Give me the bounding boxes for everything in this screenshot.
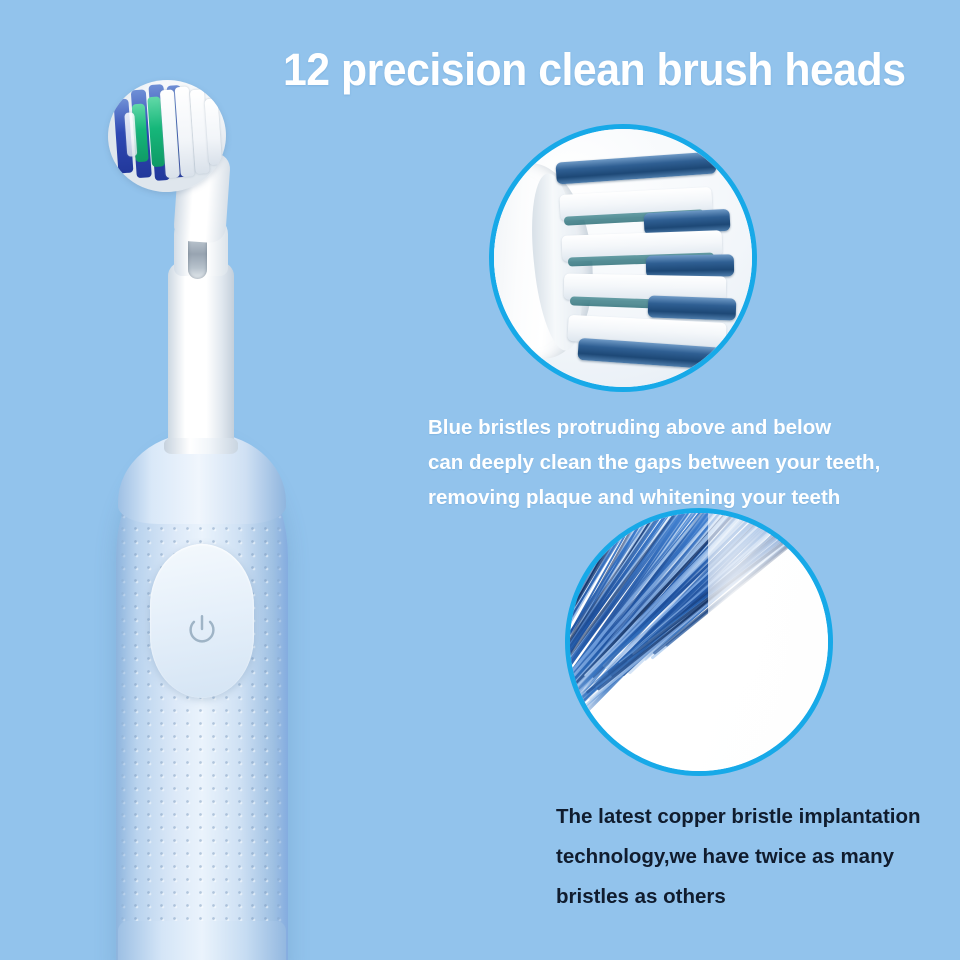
- bristle-filament-photo: [570, 513, 828, 771]
- callout-line: technology,we have twice as many: [556, 837, 921, 877]
- inset-photo-brush-head-macro: [489, 124, 757, 392]
- callout-line: Blue bristles protruding above and below: [428, 410, 880, 445]
- callout-line: can deeply clean the gaps between your t…: [428, 445, 880, 480]
- callout-copper-implantation: The latest copper bristle implantation t…: [556, 797, 921, 917]
- power-button[interactable]: [150, 544, 254, 698]
- brush-head-macro-photo: [494, 129, 752, 387]
- toothbrush-neck: [168, 262, 234, 452]
- callout-blue-bristles: Blue bristles protruding above and below…: [428, 410, 880, 515]
- handle-base: [118, 921, 286, 960]
- inset-photo-bristle-filaments: [565, 508, 833, 776]
- callout-line: The latest copper bristle implantation: [556, 797, 921, 837]
- callout-line: removing plaque and whitening your teeth: [428, 480, 880, 515]
- neck-collar-ring: [164, 438, 238, 454]
- callout-line: bristles as others: [556, 877, 921, 917]
- toothbrush-product-image: [88, 66, 338, 960]
- product-marketing-image: 12 precision clean brush heads: [0, 0, 960, 960]
- power-icon: [183, 611, 221, 649]
- page-title: 12 precision clean brush heads: [283, 44, 906, 96]
